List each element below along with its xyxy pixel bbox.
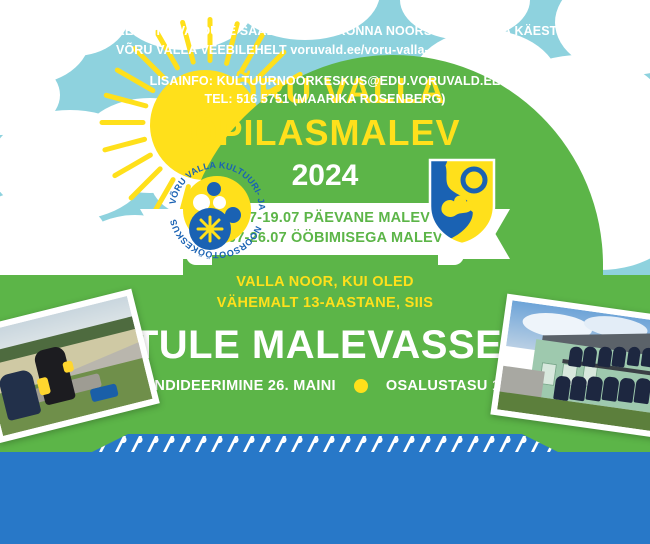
organisation-logo: VÕRU VALLA KULTUURI- JA NOORSOOTÖÖKESKUS xyxy=(167,160,267,260)
bullet-dot-icon xyxy=(354,379,368,393)
logo-dot xyxy=(207,182,221,196)
deadline-text: KANDIDEERIMINE 26. MAINI xyxy=(133,378,336,394)
photo-right-person xyxy=(568,346,583,367)
sun-ray xyxy=(154,29,181,71)
logo-snowflake-icon xyxy=(189,208,231,250)
photo-right-image xyxy=(497,300,650,431)
sun-ray xyxy=(224,21,241,67)
title-year: 2024 xyxy=(0,159,650,193)
footer-band xyxy=(0,434,650,544)
poster: VÕRU VALLA ÕPILASMALEV 2024 15.07-19.07 … xyxy=(0,0,650,544)
sun-ray xyxy=(208,17,213,63)
photo-right-person xyxy=(597,346,612,367)
title-line-1: VÕRU VALLA xyxy=(0,70,650,112)
photo-right-person xyxy=(612,346,627,367)
coat-of-arms xyxy=(428,158,496,246)
logo-blue-disc xyxy=(189,208,231,250)
photo-right xyxy=(490,294,650,439)
title-line-2: ÕPILASMALEV xyxy=(0,112,650,154)
poster-title-block: VÕRU VALLA ÕPILASMALEV 2024 xyxy=(0,70,650,193)
coat-of-arms-shield-icon xyxy=(428,158,496,246)
sun-ray xyxy=(239,31,266,73)
lead-line-1: VALLA NOOR, KUI OLED xyxy=(0,272,650,293)
sun-ray xyxy=(180,19,197,65)
photo-right-person xyxy=(634,378,650,404)
